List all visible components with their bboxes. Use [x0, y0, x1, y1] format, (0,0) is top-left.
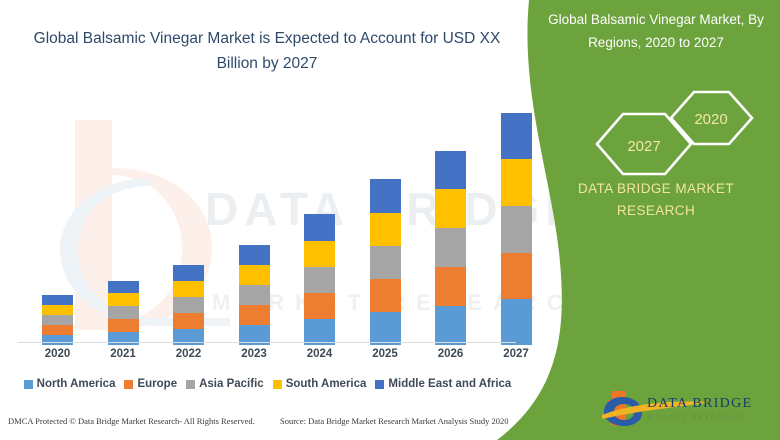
x-axis-labels: 20202021202220232024202520262027: [0, 348, 535, 368]
x-axis-label-2020: 2020: [28, 348, 88, 360]
hexagon-graphic: 2020 2027: [553, 88, 768, 188]
bar-segment-north-america: [108, 332, 139, 345]
x-axis-label-2025: 2025: [355, 348, 415, 360]
x-axis-label-2023: 2023: [224, 348, 284, 360]
legend-label: Europe: [137, 378, 177, 390]
bar-segment-europe: [239, 305, 270, 325]
hexagon-2027-label: 2027: [627, 138, 660, 155]
bar-2025: [370, 179, 401, 345]
brand-line-1: DATA BRIDGE MARKET: [537, 178, 775, 200]
bar-segment-asia-pacific: [435, 228, 466, 267]
bar-segment-asia-pacific: [304, 267, 335, 293]
bar-segment-europe: [108, 319, 139, 332]
bar-segment-middle-east-and-africa: [370, 179, 401, 213]
legend-swatch-icon: [186, 380, 195, 389]
info-panel: Global Balsamic Vinegar Market, By Regio…: [535, 0, 780, 440]
bar-segment-south-america: [239, 265, 270, 285]
bar-segment-south-america: [501, 159, 532, 206]
logo-wordmark: DATA BRIDGE: [647, 396, 752, 412]
bar-2026: [435, 151, 466, 345]
bar-segment-south-america: [370, 213, 401, 246]
footer-copyright: DMCA Protected © Data Bridge Market Rese…: [8, 416, 255, 426]
legend-swatch-icon: [24, 380, 33, 389]
footer-source: Source: Data Bridge Market Research Mark…: [280, 416, 509, 426]
bar-2022: [173, 265, 204, 345]
bar-segment-middle-east-and-africa: [173, 265, 204, 281]
bar-segment-europe: [370, 279, 401, 312]
bar-2027: [501, 113, 532, 345]
bar-segment-middle-east-and-africa: [108, 281, 139, 293]
x-axis-line: [18, 342, 516, 343]
bar-segment-north-america: [501, 299, 532, 345]
legend-swatch-icon: [375, 380, 384, 389]
hexagon-2020-label: 2020: [694, 111, 727, 128]
x-axis-label-2021: 2021: [93, 348, 153, 360]
brand-line-2: RESEARCH: [537, 200, 775, 222]
bar-segment-north-america: [42, 335, 73, 345]
bar-segment-asia-pacific: [239, 285, 270, 305]
bar-segment-middle-east-and-africa: [42, 295, 73, 305]
legend-label: North America: [37, 378, 116, 390]
bar-segment-middle-east-and-africa: [435, 151, 466, 189]
x-axis-label-2024: 2024: [290, 348, 350, 360]
bar-segment-europe: [42, 325, 73, 335]
panel-title: Global Balsamic Vinegar Market, By Regio…: [537, 8, 775, 54]
bar-segment-asia-pacific: [501, 206, 532, 253]
bar-segment-south-america: [435, 189, 466, 228]
legend-item-north-america[interactable]: North America: [24, 378, 116, 390]
chart-title: Global Balsamic Vinegar Market is Expect…: [22, 26, 512, 76]
x-axis-label-2022: 2022: [159, 348, 219, 360]
legend-label: Asia Pacific: [199, 378, 264, 390]
chart-legend: North AmericaEuropeAsia PacificSouth Ame…: [0, 374, 535, 394]
bar-segment-europe: [304, 293, 335, 319]
stacked-bar-plot: [0, 95, 535, 345]
bar-segment-middle-east-and-africa: [501, 113, 532, 159]
legend-item-south-america[interactable]: South America: [273, 378, 367, 390]
bar-segment-asia-pacific: [42, 315, 73, 325]
bar-segment-asia-pacific: [370, 246, 401, 279]
bar-segment-europe: [501, 253, 532, 299]
legend-item-asia-pacific[interactable]: Asia Pacific: [186, 378, 264, 390]
legend-swatch-icon: [124, 380, 133, 389]
x-axis-label-2026: 2026: [421, 348, 481, 360]
logo-tagline: MARKET RESEARCH: [647, 412, 744, 421]
legend-item-europe[interactable]: Europe: [124, 378, 177, 390]
bar-2023: [239, 245, 270, 345]
bar-segment-middle-east-and-africa: [304, 214, 335, 241]
bar-2024: [304, 214, 335, 345]
legend-swatch-icon: [273, 380, 282, 389]
bar-segment-middle-east-and-africa: [239, 245, 270, 265]
bar-segment-asia-pacific: [173, 297, 204, 313]
legend-label: South America: [286, 378, 367, 390]
bar-2020: [42, 295, 73, 345]
bar-segment-north-america: [435, 306, 466, 345]
bar-segment-europe: [435, 267, 466, 306]
bar-segment-south-america: [108, 293, 139, 306]
brand-name: DATA BRIDGE MARKET RESEARCH: [537, 178, 775, 222]
bar-segment-europe: [173, 313, 204, 329]
bar-2021: [108, 281, 139, 345]
chart-region: Global Balsamic Vinegar Market is Expect…: [0, 0, 535, 440]
bar-segment-asia-pacific: [108, 306, 139, 319]
bar-segment-north-america: [370, 312, 401, 345]
legend-label: Middle East and Africa: [388, 378, 511, 390]
legend-item-middle-east-and-africa[interactable]: Middle East and Africa: [375, 378, 511, 390]
bar-segment-south-america: [42, 305, 73, 315]
bar-segment-south-america: [173, 281, 204, 297]
bar-segment-south-america: [304, 241, 335, 267]
